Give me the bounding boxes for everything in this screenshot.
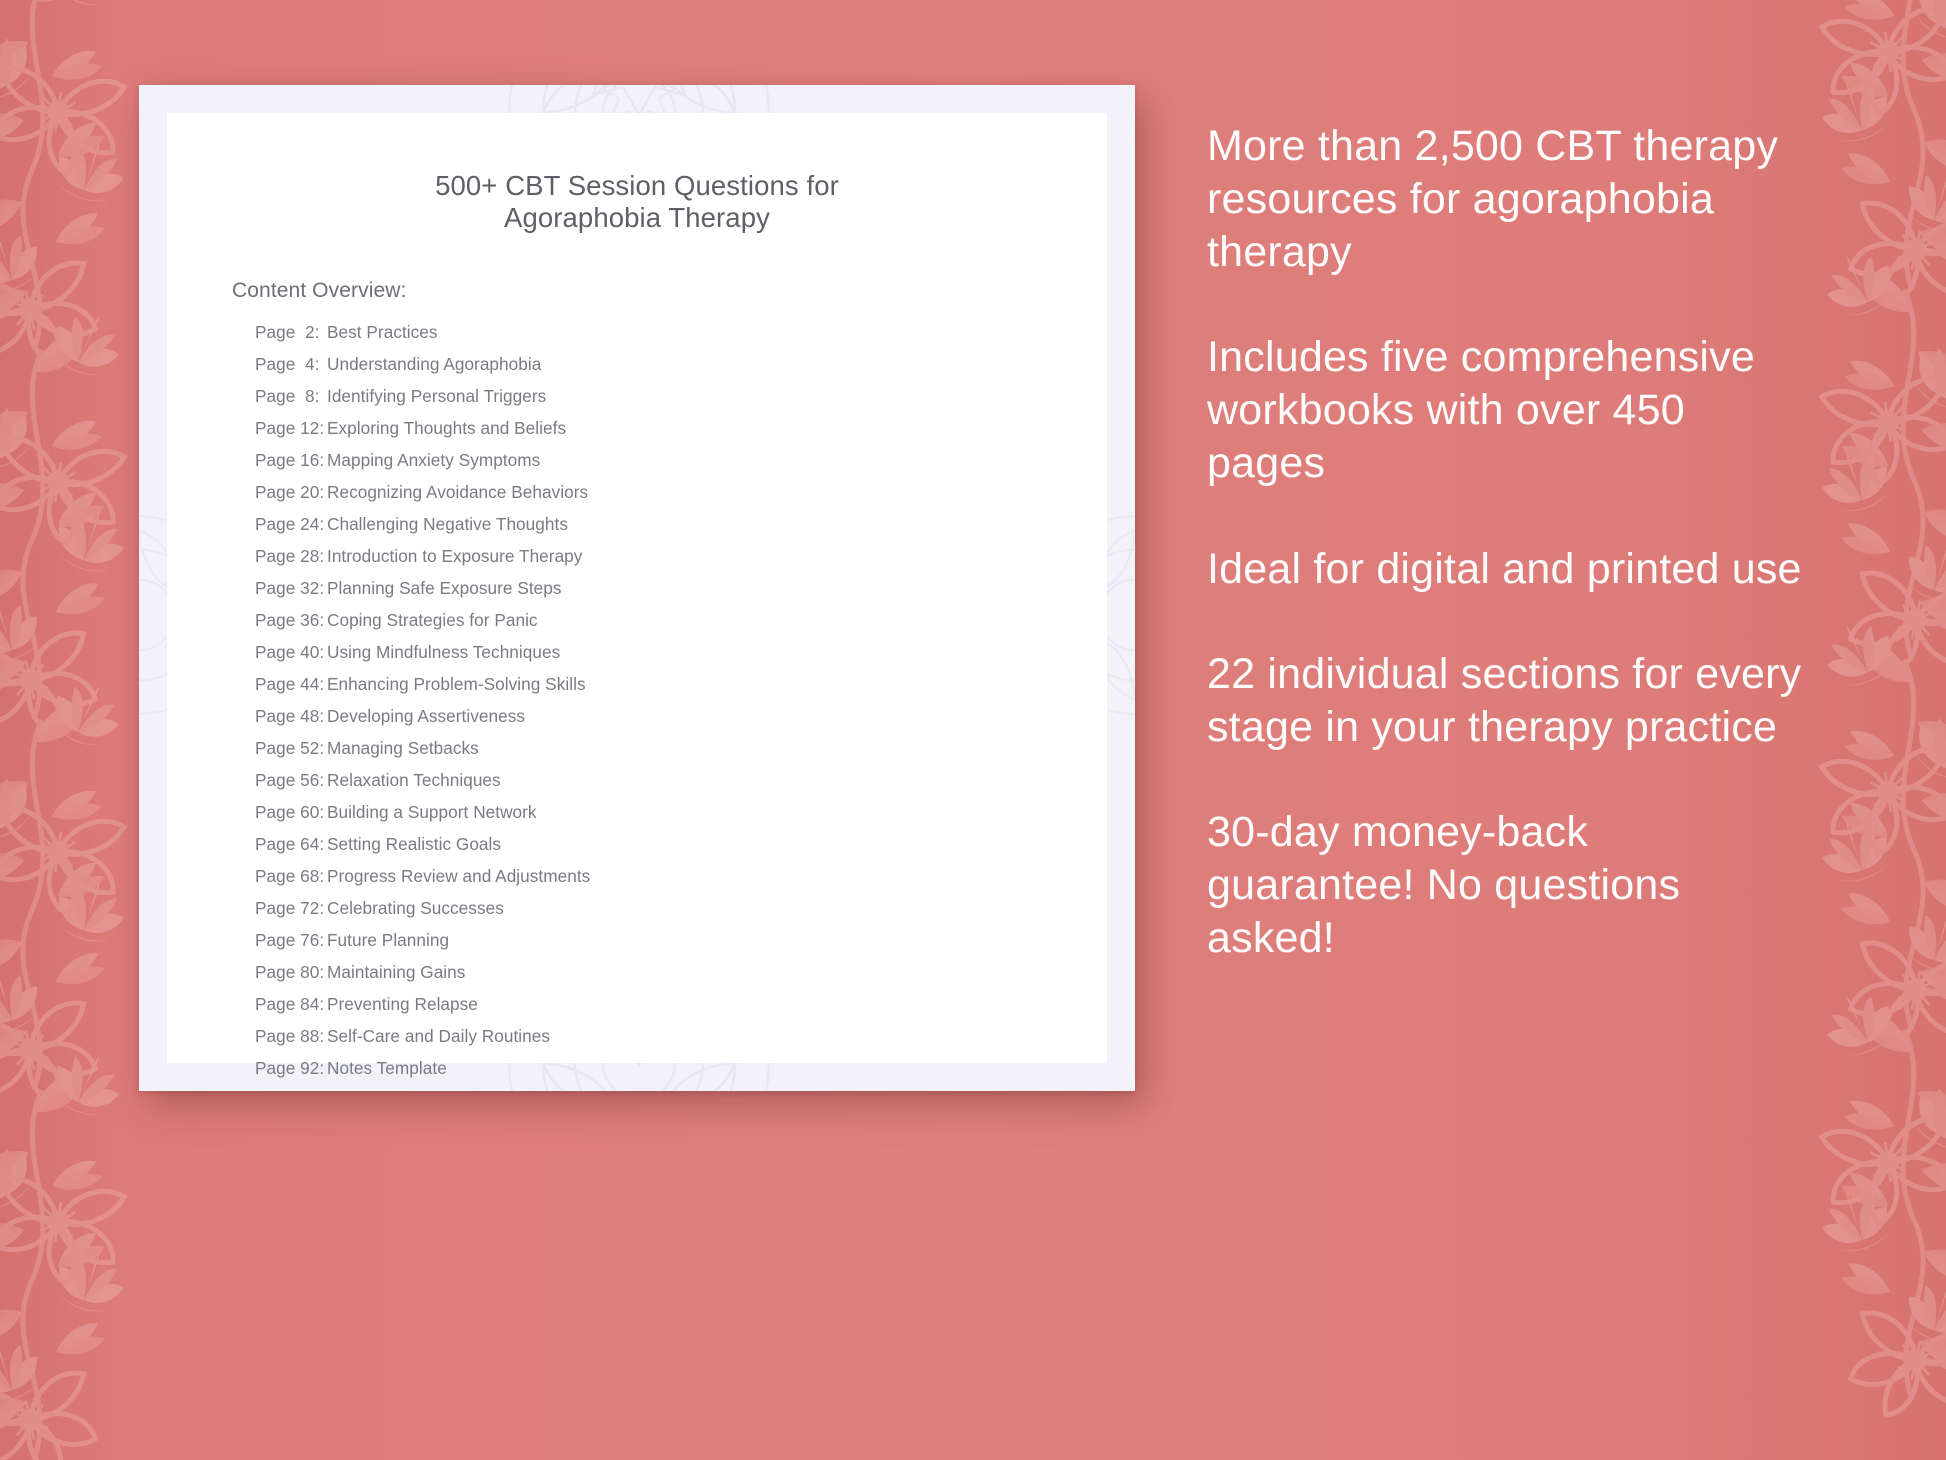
document-page: 500+ CBT Session Questions forAgoraphobi…: [167, 113, 1107, 1063]
toc-page-number: Page 36:: [255, 612, 327, 629]
toc-section-title: Exploring Thoughts and Beliefs: [327, 420, 566, 437]
toc-section-title: Identifying Personal Triggers: [327, 388, 546, 405]
toc-row: Page 8:Identifying Personal Triggers: [255, 388, 1107, 405]
content-overview-label: Content Overview:: [167, 234, 1107, 303]
toc-section-title: Maintaining Gains: [327, 964, 465, 981]
toc-section-title: Understanding Agoraphobia: [327, 356, 541, 373]
toc-section-title: Using Mindfulness Techniques: [327, 644, 560, 661]
toc-row: Page 20:Recognizing Avoidance Behaviors: [255, 484, 1107, 501]
toc-page-number: Page 24:: [255, 516, 327, 533]
toc-row: Page 2:Best Practices: [255, 324, 1107, 341]
toc-section-title: Mapping Anxiety Symptoms: [327, 452, 540, 469]
toc-page-number: Page 72:: [255, 900, 327, 917]
toc-page-number: Page 20:: [255, 484, 327, 501]
toc-row: Page 68:Progress Review and Adjustments: [255, 868, 1107, 885]
promo-bullet-list: More than 2,500 CBT therapy resources fo…: [1207, 120, 1807, 965]
toc-row: Page 52:Managing Setbacks: [255, 740, 1107, 757]
toc-row: Page 60:Building a Support Network: [255, 804, 1107, 821]
page-title-line-1: 500+ CBT Session Questions for: [435, 170, 839, 201]
toc-row: Page 64:Setting Realistic Goals: [255, 836, 1107, 853]
toc-row: Page 12:Exploring Thoughts and Beliefs: [255, 420, 1107, 437]
toc-row: Page 28:Introduction to Exposure Therapy: [255, 548, 1107, 565]
toc-page-number: Page 92:: [255, 1060, 327, 1077]
toc-row: Page 36:Coping Strategies for Panic: [255, 612, 1107, 629]
toc-page-number: Page 68:: [255, 868, 327, 885]
toc-page-number: Page 80:: [255, 964, 327, 981]
toc-section-title: Self-Care and Daily Routines: [327, 1028, 550, 1045]
toc-page-number: Page 2:: [255, 324, 327, 341]
toc-page-number: Page 12:: [255, 420, 327, 437]
toc-page-number: Page 48:: [255, 708, 327, 725]
toc-row: Page 40:Using Mindfulness Techniques: [255, 644, 1107, 661]
toc-page-number: Page 40:: [255, 644, 327, 661]
toc-page-number: Page 16:: [255, 452, 327, 469]
toc-row: Page 48:Developing Assertiveness: [255, 708, 1107, 725]
toc-page-number: Page 32:: [255, 580, 327, 597]
toc-row: Page 32:Planning Safe Exposure Steps: [255, 580, 1107, 597]
toc-row: Page 44:Enhancing Problem-Solving Skills: [255, 676, 1107, 693]
toc-row: Page 88:Self-Care and Daily Routines: [255, 1028, 1107, 1045]
document-preview-card[interactable]: 500+ CBT Session Questions forAgoraphobi…: [139, 85, 1135, 1091]
promo-point: Includes five comprehensive workbooks wi…: [1207, 331, 1807, 490]
toc-page-number: Page 84:: [255, 996, 327, 1013]
toc-row: Page 72:Celebrating Successes: [255, 900, 1107, 917]
toc-page-number: Page 56:: [255, 772, 327, 789]
toc-section-title: Notes Template: [327, 1060, 447, 1077]
toc-section-title: Enhancing Problem-Solving Skills: [327, 676, 586, 693]
promo-point: 30-day money-back guarantee! No question…: [1207, 806, 1807, 965]
table-of-contents-list: Page 2:Best PracticesPage 4:Understandin…: [167, 303, 1107, 1077]
toc-section-title: Managing Setbacks: [327, 740, 479, 757]
toc-section-title: Challenging Negative Thoughts: [327, 516, 568, 533]
toc-row: Page 92:Notes Template: [255, 1060, 1107, 1077]
toc-row: Page 84:Preventing Relapse: [255, 996, 1107, 1013]
toc-page-number: Page 64:: [255, 836, 327, 853]
toc-row: Page 56:Relaxation Techniques: [255, 772, 1107, 789]
toc-section-title: Coping Strategies for Panic: [327, 612, 538, 629]
toc-section-title: Recognizing Avoidance Behaviors: [327, 484, 588, 501]
toc-page-number: Page 52:: [255, 740, 327, 757]
toc-section-title: Preventing Relapse: [327, 996, 478, 1013]
promo-point: Ideal for digital and printed use: [1207, 543, 1807, 596]
page-title: 500+ CBT Session Questions forAgoraphobi…: [167, 113, 1107, 234]
toc-section-title: Planning Safe Exposure Steps: [327, 580, 562, 597]
toc-page-number: Page 88:: [255, 1028, 327, 1045]
toc-section-title: Relaxation Techniques: [327, 772, 501, 789]
toc-section-title: Introduction to Exposure Therapy: [327, 548, 582, 565]
toc-page-number: Page 4:: [255, 356, 327, 373]
toc-page-number: Page 44:: [255, 676, 327, 693]
toc-section-title: Developing Assertiveness: [327, 708, 525, 725]
toc-row: Page 76:Future Planning: [255, 932, 1107, 949]
page-title-line-2: Agoraphobia Therapy: [504, 202, 770, 233]
toc-section-title: Celebrating Successes: [327, 900, 504, 917]
toc-section-title: Progress Review and Adjustments: [327, 868, 590, 885]
toc-page-number: Page 28:: [255, 548, 327, 565]
toc-section-title: Best Practices: [327, 324, 438, 341]
promo-point: More than 2,500 CBT therapy resources fo…: [1207, 120, 1807, 279]
toc-page-number: Page 76:: [255, 932, 327, 949]
product-promo-canvas: 500+ CBT Session Questions forAgoraphobi…: [0, 0, 1946, 1460]
toc-page-number: Page 8:: [255, 388, 327, 405]
promo-point: 22 individual sections for every stage i…: [1207, 648, 1807, 754]
toc-row: Page 24:Challenging Negative Thoughts: [255, 516, 1107, 533]
toc-row: Page 4:Understanding Agoraphobia: [255, 356, 1107, 373]
toc-section-title: Setting Realistic Goals: [327, 836, 501, 853]
toc-page-number: Page 60:: [255, 804, 327, 821]
toc-section-title: Future Planning: [327, 932, 449, 949]
toc-section-title: Building a Support Network: [327, 804, 537, 821]
toc-row: Page 16:Mapping Anxiety Symptoms: [255, 452, 1107, 469]
toc-row: Page 80:Maintaining Gains: [255, 964, 1107, 981]
